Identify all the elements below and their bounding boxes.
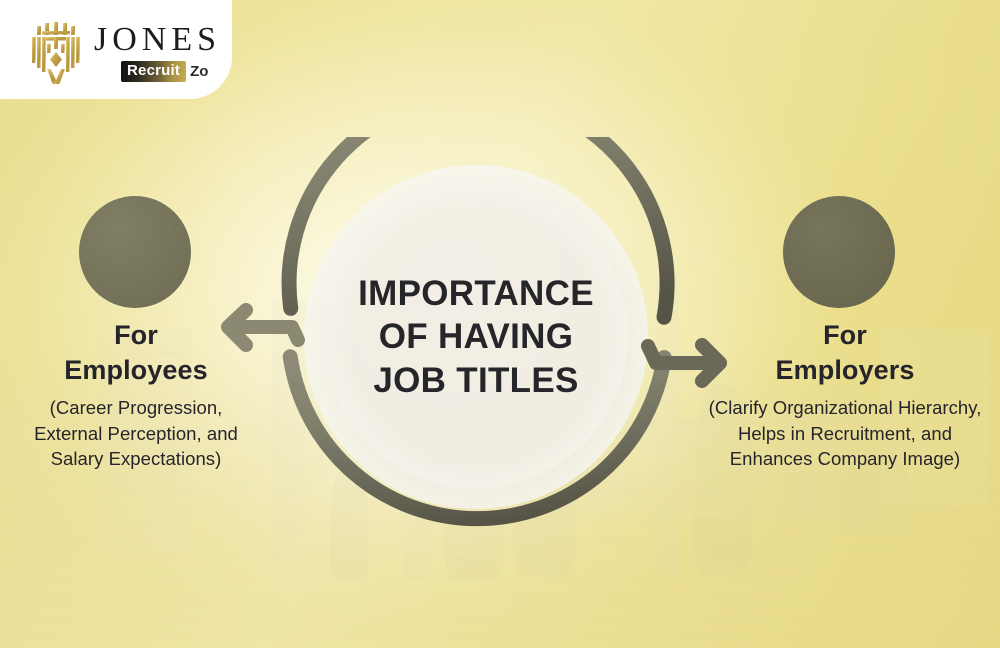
infographic-canvas: JONES Recruit Zo	[0, 0, 1000, 648]
branch-employers-title-line-2: Employers	[690, 353, 1000, 388]
decorative-circle-icon-left	[79, 196, 191, 308]
branch-employers-title: For Employers	[690, 318, 1000, 387]
branch-employers-title-line-1: For	[690, 318, 1000, 353]
hub-title-line-3: JOB TITLES	[311, 359, 641, 402]
hub-title-line-1: IMPORTANCE	[311, 272, 641, 315]
branch-employees-title: For Employees	[0, 318, 272, 387]
central-hub: IMPORTANCE OF HAVING JOB TITLES	[276, 137, 676, 537]
brand-badge-recruit: Recruit	[121, 61, 186, 81]
branch-employers: For Employers (Clarify Organizational Hi…	[690, 318, 1000, 472]
hub-title-line-2: OF HAVING	[311, 315, 641, 358]
brand-badge-suffix: Zo	[190, 63, 208, 80]
brand-logo-card[interactable]: JONES Recruit Zo	[0, 0, 232, 99]
branch-employees-title-line-1: For	[0, 318, 272, 353]
branch-employers-description: (Clarify Organizational Hierarchy, Helps…	[690, 395, 1000, 472]
crown-shield-emblem-icon	[28, 22, 84, 84]
brand-wordmark: JONES	[94, 23, 221, 57]
hub-title: IMPORTANCE OF HAVING JOB TITLES	[311, 272, 641, 402]
branch-employees-title-line-2: Employees	[0, 353, 272, 388]
branch-employees-description: (Career Progression, External Perception…	[0, 395, 272, 472]
decorative-circle-icon-right	[783, 196, 895, 308]
branch-employees: For Employees (Career Progression, Exter…	[0, 318, 272, 472]
